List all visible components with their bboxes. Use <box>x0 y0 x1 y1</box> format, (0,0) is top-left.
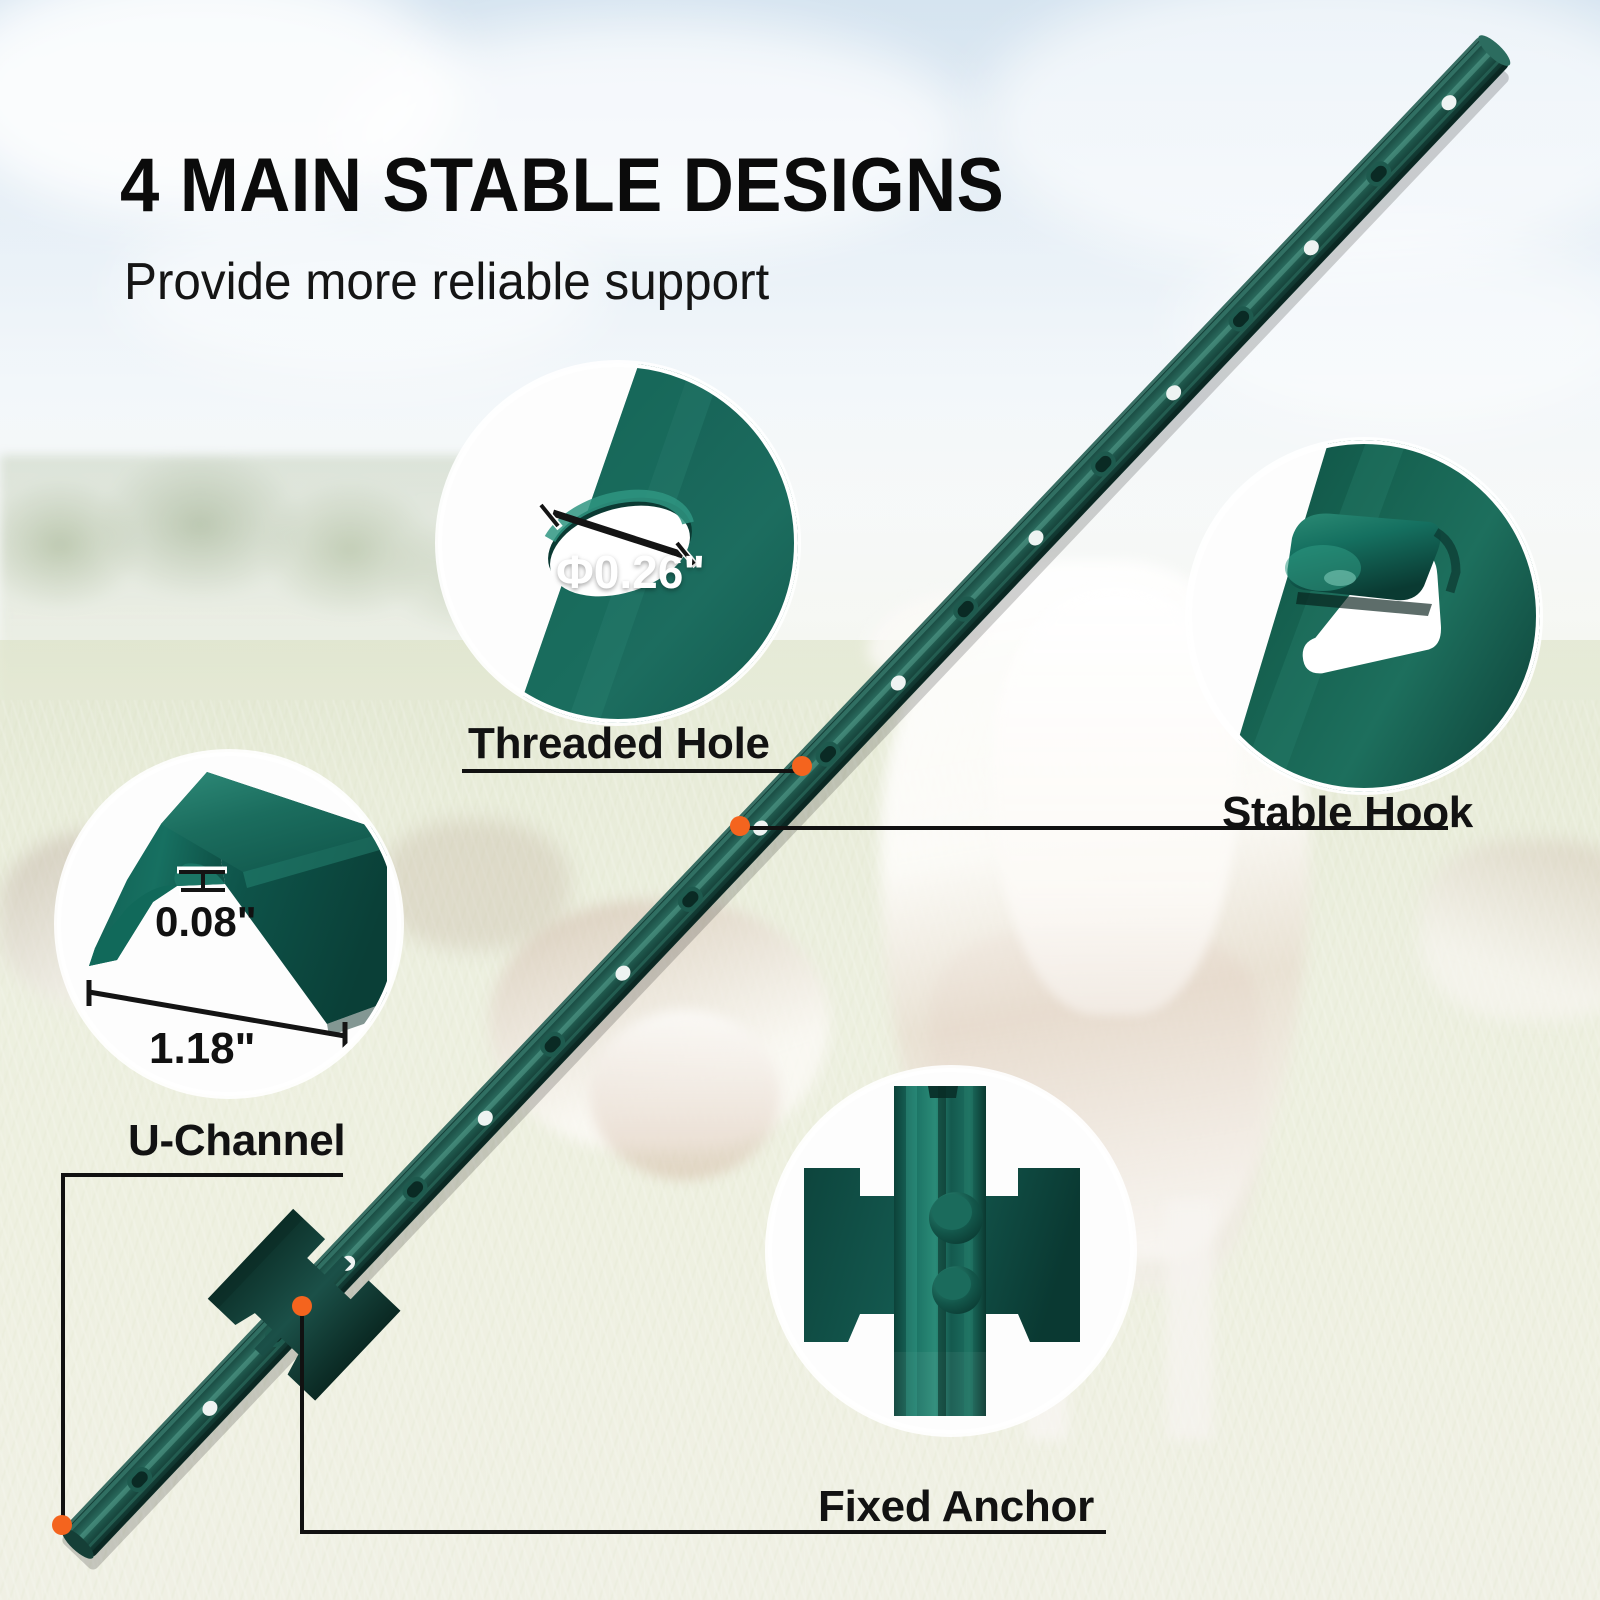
threaded-hole-dimension-label: Φ0.26" <box>556 545 705 599</box>
leader-line-threaded-hole <box>462 769 802 773</box>
leader-line-fixed-anchor-horizontal <box>300 1530 1106 1534</box>
marker-dot-stable-hook <box>730 816 750 836</box>
leader-line-u-channel-horizontal <box>61 1173 343 1177</box>
callout-fixed-anchor[interactable] <box>768 1068 1134 1434</box>
u-channel-thickness-label: 0.08" <box>155 898 257 946</box>
page-title: 4 MAIN STABLE DESIGNS <box>120 146 1004 226</box>
infographic-canvas: 4 MAIN STABLE DESIGNS Provide more relia… <box>0 0 1600 1600</box>
callout-label-u-channel: U-Channel <box>128 1116 345 1166</box>
callout-label-fixed-anchor: Fixed Anchor <box>818 1482 1094 1532</box>
callout-label-threaded-hole: Threaded Hole <box>468 719 770 769</box>
callout-u-channel[interactable]: 0.08" 1.18" <box>57 752 401 1096</box>
leader-line-stable-hook <box>748 826 1448 830</box>
marker-dot-fixed-anchor <box>292 1296 312 1316</box>
marker-dot-u-channel <box>52 1515 72 1535</box>
callout-stable-hook[interactable] <box>1188 440 1540 792</box>
u-channel-width-label: 1.18" <box>149 1024 256 1074</box>
page-subtitle: Provide more reliable support <box>124 252 769 312</box>
callout-threaded-hole[interactable]: Φ0.26" <box>438 363 798 723</box>
marker-dot-threaded-hole <box>792 756 812 776</box>
leader-line-u-channel-vertical <box>61 1173 65 1525</box>
callout-label-stable-hook: Stable Hook <box>1222 788 1473 838</box>
leader-line-fixed-anchor-vertical <box>300 1312 304 1532</box>
